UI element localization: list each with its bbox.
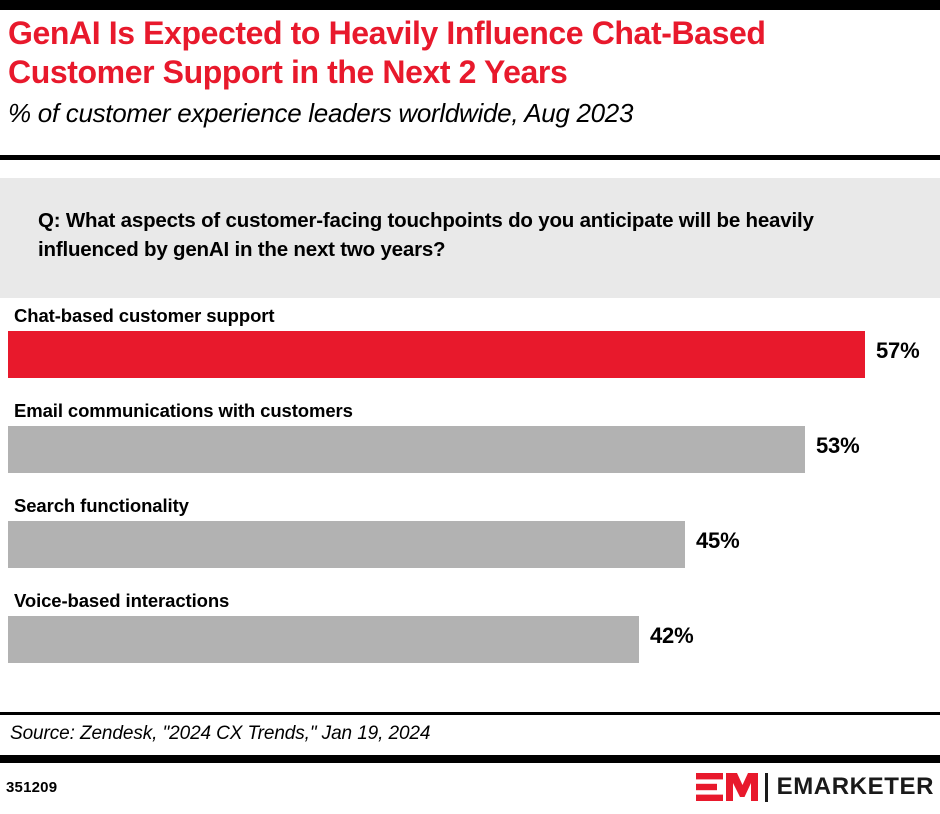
page-subtitle: % of customer experience leaders worldwi… (8, 98, 932, 128)
bar-fill (8, 616, 639, 663)
emarketer-logo: EMARKETER (696, 771, 934, 803)
infographic-page: GenAI Is Expected to Heavily Influence C… (0, 0, 940, 814)
bar-row: Voice-based interactions42% (0, 590, 940, 685)
bar-value-label: 57% (876, 338, 919, 364)
chart-id: 351209 (6, 779, 57, 796)
bar-fill (8, 521, 685, 568)
header-divider (0, 155, 940, 160)
bar-value-label: 53% (816, 433, 859, 459)
bar-track (8, 521, 685, 568)
bar-category-label: Search functionality (14, 495, 189, 517)
question-text: Q: What aspects of customer-facing touch… (38, 206, 906, 264)
question-panel: Q: What aspects of customer-facing touch… (0, 178, 940, 298)
bar-track (8, 616, 639, 663)
bar-row: Email communications with customers53% (0, 400, 940, 495)
bar-track (8, 426, 805, 473)
bar-category-label: Chat-based customer support (14, 305, 274, 327)
footer-divider (0, 755, 940, 763)
top-divider (0, 0, 940, 10)
em-logo-icon (696, 772, 758, 802)
header: GenAI Is Expected to Heavily Influence C… (8, 14, 932, 128)
bar-fill (8, 426, 805, 473)
bar-row: Chat-based customer support57% (0, 305, 940, 400)
source-note: Source: Zendesk, "2024 CX Trends," Jan 1… (10, 722, 430, 745)
logo-wordmark: EMARKETER (777, 775, 934, 799)
logo-divider (765, 773, 768, 802)
bar-row: Search functionality45% (0, 495, 940, 590)
bar-track (8, 331, 865, 378)
source-divider (0, 712, 940, 715)
bar-chart: Chat-based customer support57%Email comm… (0, 298, 940, 712)
bar-category-label: Email communications with customers (14, 400, 353, 422)
bar-category-label: Voice-based interactions (14, 590, 229, 612)
bar-value-label: 45% (696, 528, 739, 554)
page-title: GenAI Is Expected to Heavily Influence C… (8, 14, 932, 92)
bar-fill (8, 331, 865, 378)
bar-value-label: 42% (650, 623, 693, 649)
